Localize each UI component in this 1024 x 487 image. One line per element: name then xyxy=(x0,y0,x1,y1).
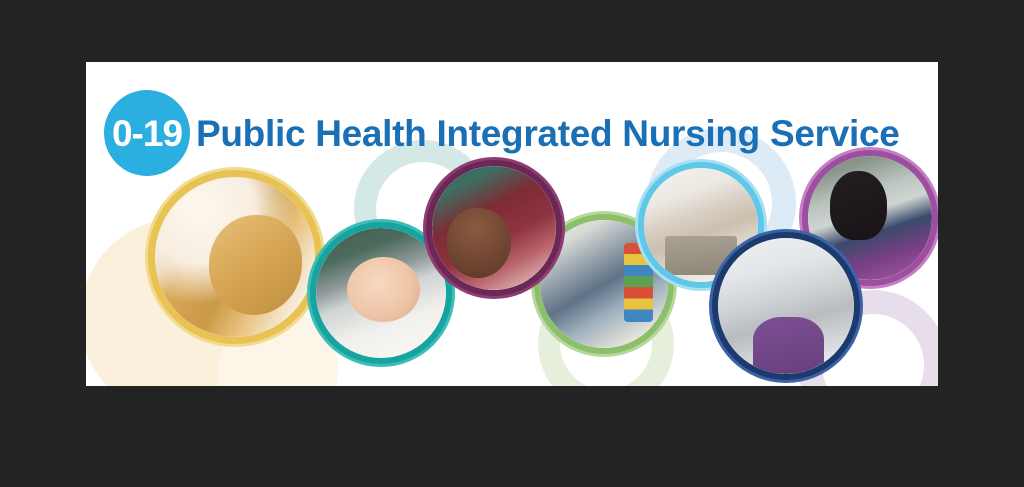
photo-artwork-pregnancy xyxy=(155,177,315,337)
photo-artwork-school-age-child xyxy=(718,238,854,374)
photo-circle-mother-and-baby xyxy=(426,160,562,296)
photo-image-mother-and-baby xyxy=(432,166,556,290)
banner-title: Public Health Integrated Nursing Service xyxy=(196,115,900,152)
banner-title-row: 0-19 Public Health Integrated Nursing Se… xyxy=(104,90,900,176)
age-range-badge-label: 0-19 xyxy=(112,115,182,152)
age-range-badge: 0-19 xyxy=(104,90,190,176)
service-banner: 0-19 Public Health Integrated Nursing Se… xyxy=(86,62,938,386)
photo-circle-school-age-child xyxy=(712,232,860,380)
screenshot-canvas: 0-19 Public Health Integrated Nursing Se… xyxy=(0,0,1024,487)
photo-circle-pregnancy xyxy=(148,170,322,344)
photo-image-newborn xyxy=(316,228,446,358)
photo-artwork-newborn xyxy=(316,228,446,358)
photo-image-pregnancy xyxy=(155,177,315,337)
photo-image-school-age-child xyxy=(718,238,854,374)
photo-artwork-mother-and-baby xyxy=(432,166,556,290)
